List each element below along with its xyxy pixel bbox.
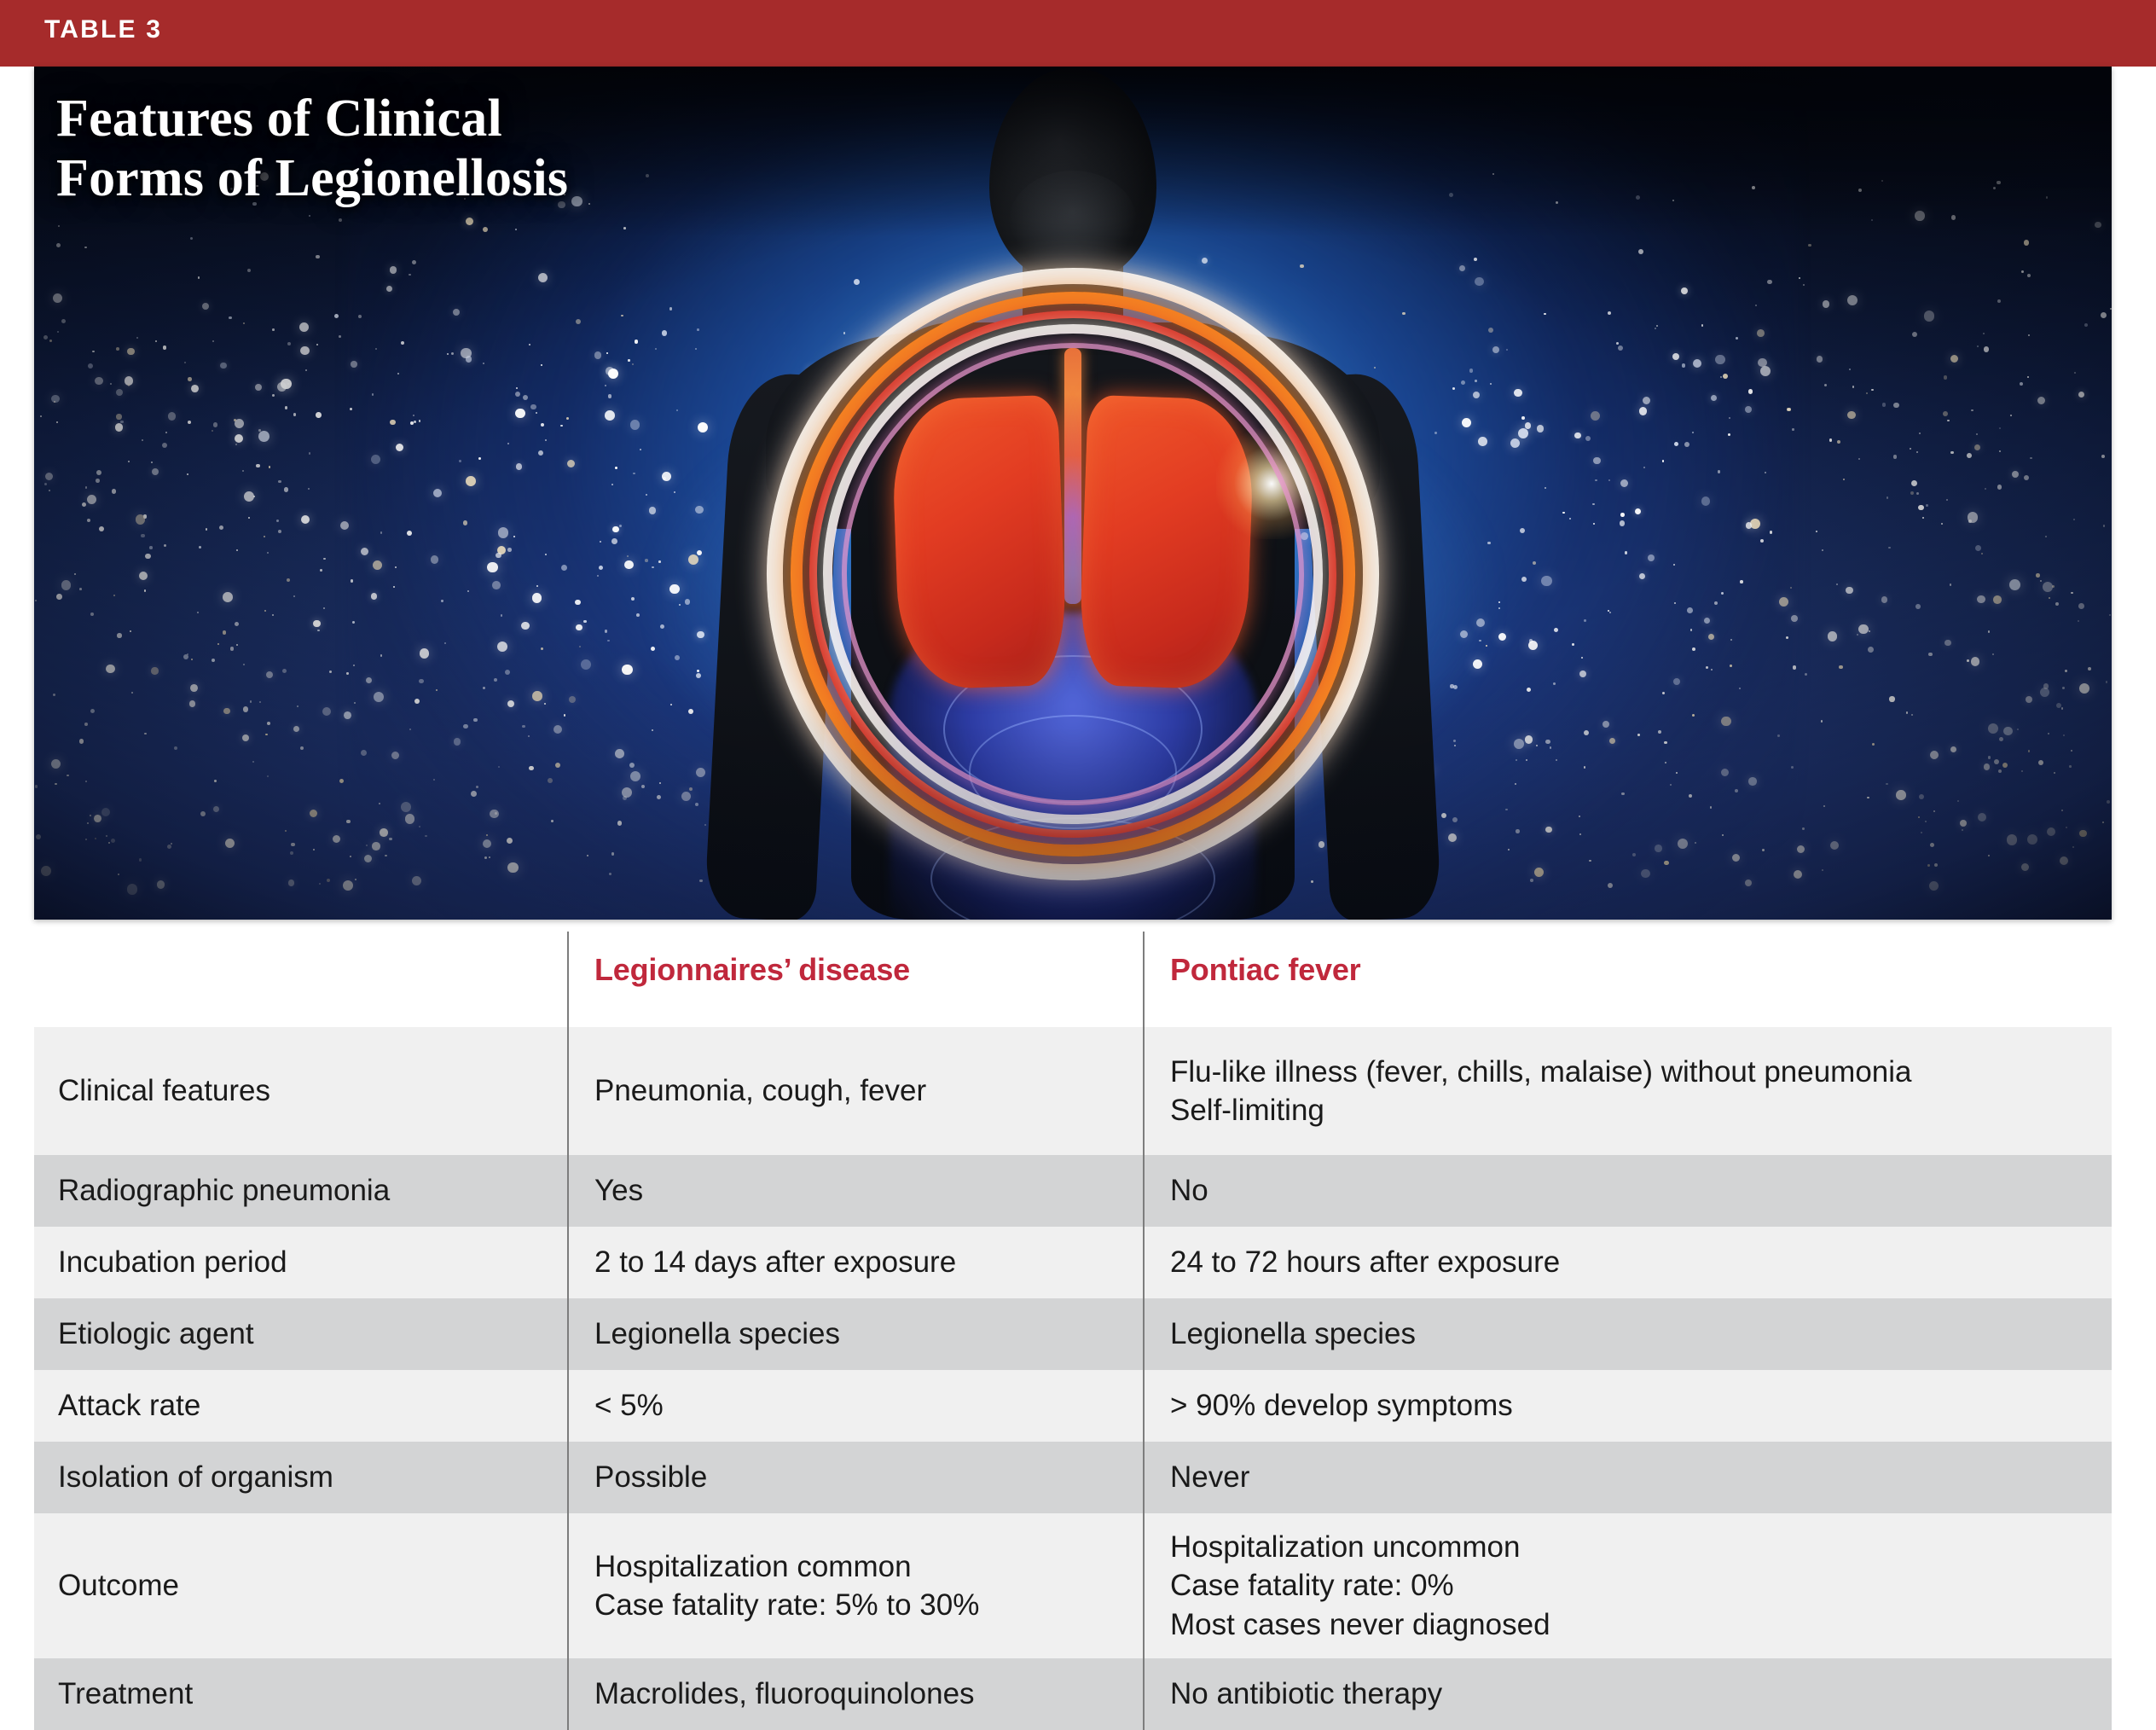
cell-pontiac-text: No [1170,1171,1208,1210]
cell-legionnaires-text: Macrolides, fluoroquinolones [594,1675,975,1714]
cell-legionnaires-text: < 5% [594,1386,664,1425]
cell-legionnaires: 2 to 14 days after exposure [567,1227,1143,1298]
hero-title: Features of Clinical Forms of Legionello… [56,89,568,208]
cell-legionnaires-text: Hospitalization common Case fatality rat… [594,1547,979,1625]
cell-feature-text: Etiologic agent [58,1315,254,1354]
header-label-legionnaires: Legionnaires’ disease [594,952,910,988]
cell-legionnaires-text: Possible [594,1458,707,1497]
cell-feature-text: Isolation of organism [58,1458,333,1497]
cell-pontiac-text: No antibiotic therapy [1170,1675,1442,1714]
cell-feature-text: Attack rate [58,1386,200,1425]
cell-feature: Incubation period [34,1227,567,1298]
cell-legionnaires: Macrolides, fluoroquinolones [567,1658,1143,1730]
header-cell-feature [34,932,567,1027]
cell-feature-text: Incubation period [58,1243,287,1282]
cell-legionnaires: Legionella species [567,1298,1143,1370]
cell-pontiac: Never [1143,1442,2112,1513]
cell-feature-text: Clinical features [58,1071,270,1111]
table-row: OutcomeHospitalization common Case fatal… [34,1513,2112,1658]
hero-illustration: Features of Clinical Forms of Legionello… [34,67,2112,920]
cell-pontiac: Flu-like illness (fever, chills, malaise… [1143,1027,2112,1155]
cell-pontiac-text: 24 to 72 hours after exposure [1170,1243,1560,1282]
cell-pontiac: No antibiotic therapy [1143,1658,2112,1730]
cell-legionnaires: Yes [567,1155,1143,1227]
cell-pontiac-text: Legionella species [1170,1315,1416,1354]
cell-feature-text: Treatment [58,1675,193,1714]
cell-pontiac-text: > 90% develop symptoms [1170,1386,1513,1425]
cell-legionnaires: Possible [567,1442,1143,1513]
cell-pontiac: 24 to 72 hours after exposure [1143,1227,2112,1298]
cell-legionnaires-text: Legionella species [594,1315,840,1354]
cell-legionnaires: < 5% [567,1370,1143,1442]
header-label-pontiac: Pontiac fever [1170,952,1361,988]
table-row: Clinical featuresPneumonia, cough, fever… [34,1027,2112,1155]
cell-pontiac: Legionella species [1143,1298,2112,1370]
cell-legionnaires: Pneumonia, cough, fever [567,1027,1143,1155]
cell-legionnaires-text: Pneumonia, cough, fever [594,1071,926,1111]
cell-feature-text: Radiographic pneumonia [58,1171,390,1210]
cell-pontiac: Hospitalization uncommon Case fatality r… [1143,1513,2112,1658]
cell-pontiac: > 90% develop symptoms [1143,1370,2112,1442]
table-row: Incubation period2 to 14 days after expo… [34,1227,2112,1298]
cell-feature: Isolation of organism [34,1442,567,1513]
cell-feature: Radiographic pneumonia [34,1155,567,1227]
cell-legionnaires-text: Yes [594,1171,643,1210]
cell-feature: Attack rate [34,1370,567,1442]
cell-pontiac-text: Never [1170,1458,1249,1497]
cell-legionnaires-text: 2 to 14 days after exposure [594,1243,956,1282]
comparison-table: Legionnaires’ disease Pontiac fever Clin… [34,932,2112,1730]
table-row: TreatmentMacrolides, fluoroquinolonesNo … [34,1658,2112,1730]
cell-feature-text: Outcome [58,1566,179,1605]
cell-pontiac-text: Flu-like illness (fever, chills, malaise… [1170,1053,1912,1130]
cell-feature: Treatment [34,1658,567,1730]
table-row: Attack rate< 5%> 90% develop symptoms [34,1370,2112,1442]
cell-pontiac: No [1143,1155,2112,1227]
table-row: Etiologic agentLegionella speciesLegione… [34,1298,2112,1370]
cell-feature: Clinical features [34,1027,567,1155]
table-number-label: TABLE 3 [44,15,162,44]
header-cell-pontiac: Pontiac fever [1143,932,2112,1027]
table-row: Radiographic pneumoniaYesNo [34,1155,2112,1227]
table-body: Clinical featuresPneumonia, cough, fever… [34,1027,2112,1730]
table-banner: TABLE 3 [0,0,2156,67]
cell-pontiac-text: Hospitalization uncommon Case fatality r… [1170,1528,1550,1645]
table-row: Isolation of organismPossibleNever [34,1442,2112,1513]
header-cell-legionnaires: Legionnaires’ disease [567,932,1143,1027]
cell-legionnaires: Hospitalization common Case fatality rat… [567,1513,1143,1658]
table-header-row: Legionnaires’ disease Pontiac fever [34,932,2112,1027]
cell-feature: Etiologic agent [34,1298,567,1370]
cell-feature: Outcome [34,1513,567,1658]
